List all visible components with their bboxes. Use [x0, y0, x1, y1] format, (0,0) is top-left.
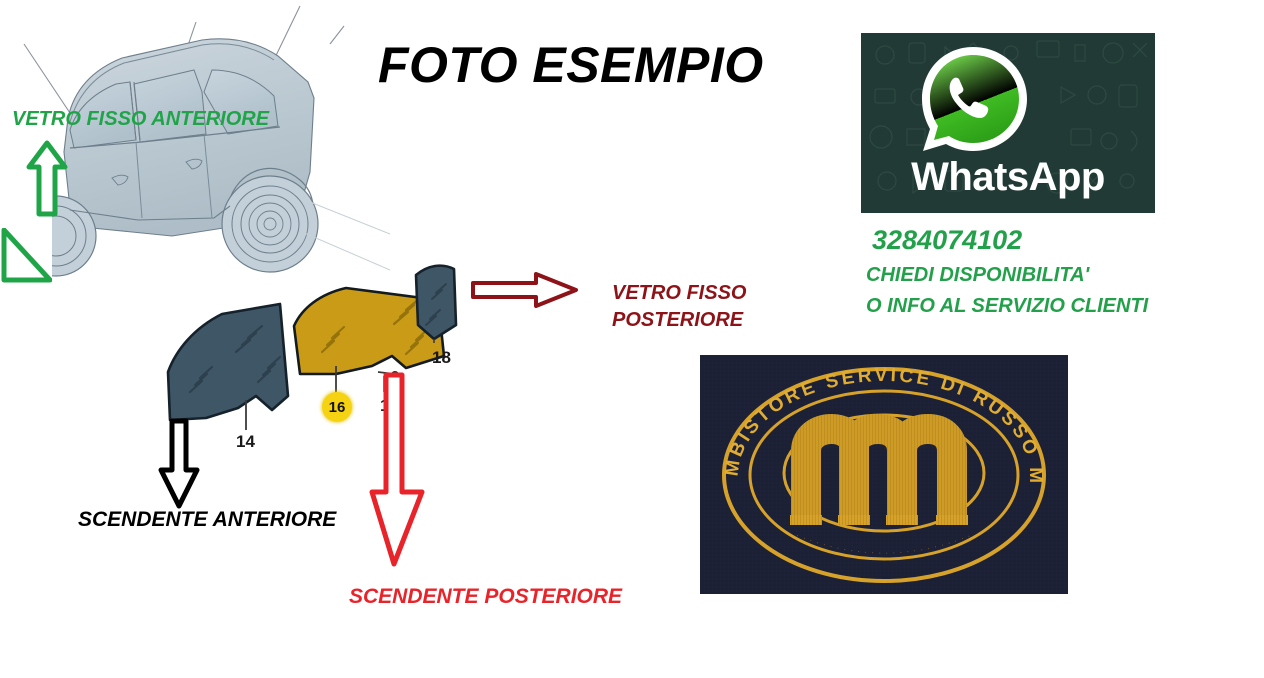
red-down-arrow-icon: [368, 372, 426, 570]
label-scendente-posteriore: SCENDENTE POSTERIORE: [349, 585, 622, 609]
company-logo-card: MRICAMBISTORE SERVICE DI RUSSO MARCO · ·…: [700, 355, 1068, 594]
contact-cta-line-1: CHIEDI DISPONIBILITA': [866, 264, 1089, 287]
green-triangle-arrow-icon: [0, 228, 52, 284]
phone-number[interactable]: 3284074102: [872, 225, 1022, 256]
part-14-leader-stem: [240, 400, 252, 432]
part-number-14: 14: [236, 432, 255, 452]
car-technical-illustration: [52, 22, 392, 302]
label-vetro-fisso-posteriore-line-1: VETRO FISSO: [612, 280, 746, 307]
svg-text:· · · · · · · · · · · · · · ·: · · · · · · · · · · · · · · · · · · · · …: [795, 532, 973, 557]
part-14-front-door-glass: [160, 300, 290, 425]
label-vetro-fisso-anteriore: VETRO FISSO ANTERIORE: [12, 108, 269, 131]
page-title: FOTO ESEMPIO: [378, 36, 764, 94]
part-number-18: 18: [432, 348, 451, 368]
contact-cta-line-2: O INFO AL SERVIZIO CLIENTI: [866, 295, 1148, 318]
whatsapp-wordmark: WhatsApp: [861, 155, 1155, 200]
whatsapp-logo-icon: [913, 41, 1033, 159]
company-emblem: MRICAMBISTORE SERVICE DI RUSSO MARCO · ·…: [700, 355, 1068, 594]
label-vetro-fisso-posteriore-line-2: POSTERIORE: [612, 307, 746, 334]
part-18-rear-fixed-glass: [412, 263, 460, 343]
part-callout-16-label: 16: [329, 399, 346, 416]
label-scendente-anteriore: SCENDENTE ANTERIORE: [78, 508, 336, 532]
green-up-arrow-icon: [26, 140, 68, 218]
black-down-arrow-icon: [157, 418, 201, 510]
poster-canvas: 14 17 18 16 FOTO ESEMPIO VETRO FISSO ANT…: [0, 0, 1264, 678]
whatsapp-banner[interactable]: WhatsApp: [861, 33, 1155, 213]
emblem-motto-text: · · · · · · · · · · · · · · · · · · · · …: [795, 532, 973, 557]
label-vetro-fisso-posteriore: VETRO FISSO POSTERIORE: [612, 280, 746, 334]
maroon-right-arrow-icon: [470, 270, 580, 310]
part-callout-16: 16: [322, 392, 352, 422]
